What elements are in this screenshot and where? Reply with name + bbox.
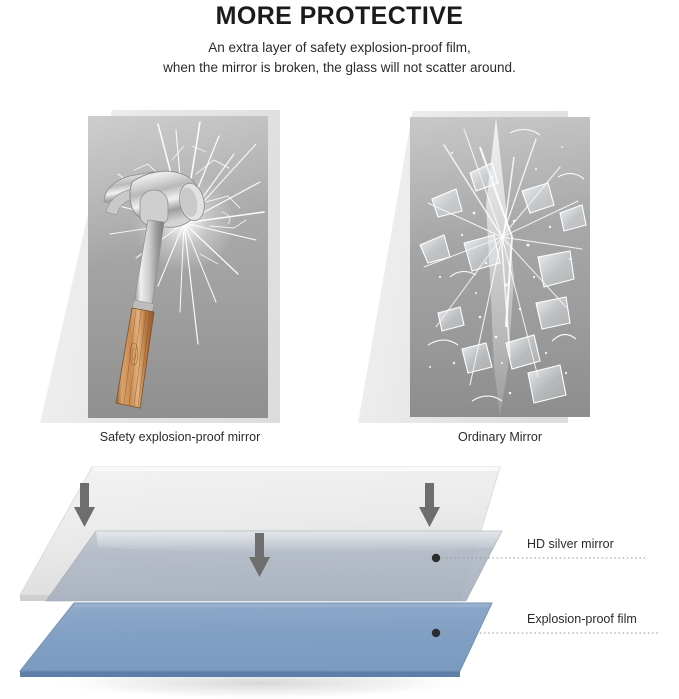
subtitle-line-1: An extra layer of safety explosion-proof… [0, 38, 679, 58]
crack-lines-icon [88, 116, 268, 418]
subtitle-line-2: when the mirror is broken, the glass wil… [0, 58, 679, 78]
layer-stack-illustration [0, 455, 679, 699]
label-explosion-proof-film: Explosion-proof film [527, 612, 637, 626]
label-hd-silver-mirror: HD silver mirror [527, 537, 614, 551]
cracked-mirror-illustration [88, 116, 268, 418]
subtitle: An extra layer of safety explosion-proof… [0, 38, 679, 78]
page-title: MORE PROTECTIVE [0, 2, 679, 30]
panel-ordinary-mirror: Ordinary Mirror [350, 105, 650, 455]
shattered-glass-illustration [410, 117, 590, 417]
caption-ordinary-mirror: Ordinary Mirror [350, 430, 650, 444]
explosion-proof-film-plate [20, 603, 492, 671]
layer-diagram: HD silver mirror Explosion-proof film [0, 455, 679, 699]
glass-shards-icon [410, 117, 590, 417]
panel-safety-mirror: Safety explosion-proof mirror [30, 105, 330, 455]
comparison-section: Safety explosion-proof mirror [0, 105, 679, 455]
header: MORE PROTECTIVE An extra layer of safety… [0, 0, 679, 78]
caption-safety-mirror: Safety explosion-proof mirror [30, 430, 330, 444]
